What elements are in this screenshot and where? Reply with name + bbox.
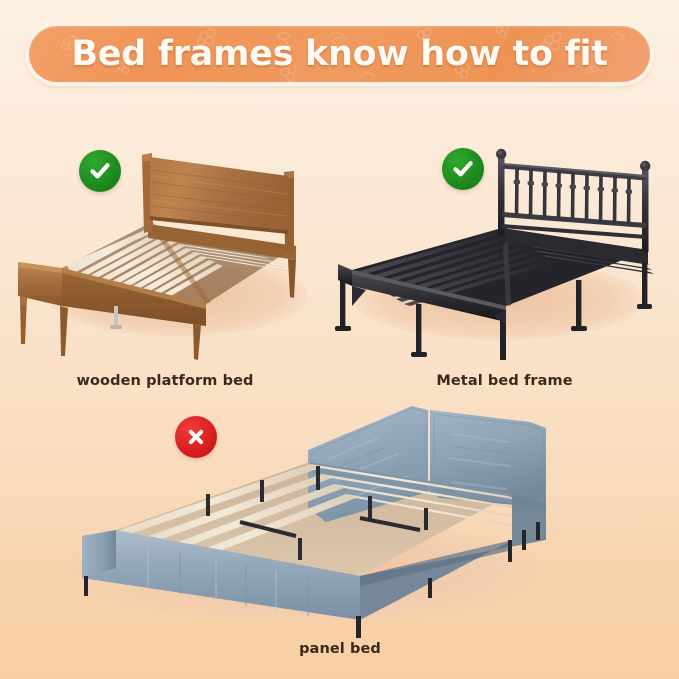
header-banner: Bed frames know how to fit [25,22,654,86]
metal-bed-caption: Metal bed frame [330,373,679,389]
infographic-stage: Bed frames know how to fit [0,0,679,679]
wooden-platform-bed-illustration [0,120,330,360]
item-metal-bed-frame: Metal bed frame [330,120,679,400]
metal-bed-status-badge [442,148,484,190]
wooden-bed-status-badge [79,150,121,192]
item-wooden-platform-bed: wooden platform bed [0,120,330,400]
header-banner-inner: Bed frames know how to fit [29,26,650,82]
metal-bed-frame-illustration [330,120,679,360]
wooden-bed-caption: wooden platform bed [0,373,330,389]
panel-bed-caption: panel bed [60,641,620,657]
panel-bed-status-badge [175,416,217,458]
check-circle-icon [451,157,475,181]
check-circle-icon [88,159,112,183]
banner-title: Bed frames know how to fit [71,34,607,74]
item-panel-bed: panel bed [60,398,620,668]
cross-circle-icon [185,426,207,448]
headboard-spindles [515,167,631,225]
panel-bed-illustration [60,398,620,648]
